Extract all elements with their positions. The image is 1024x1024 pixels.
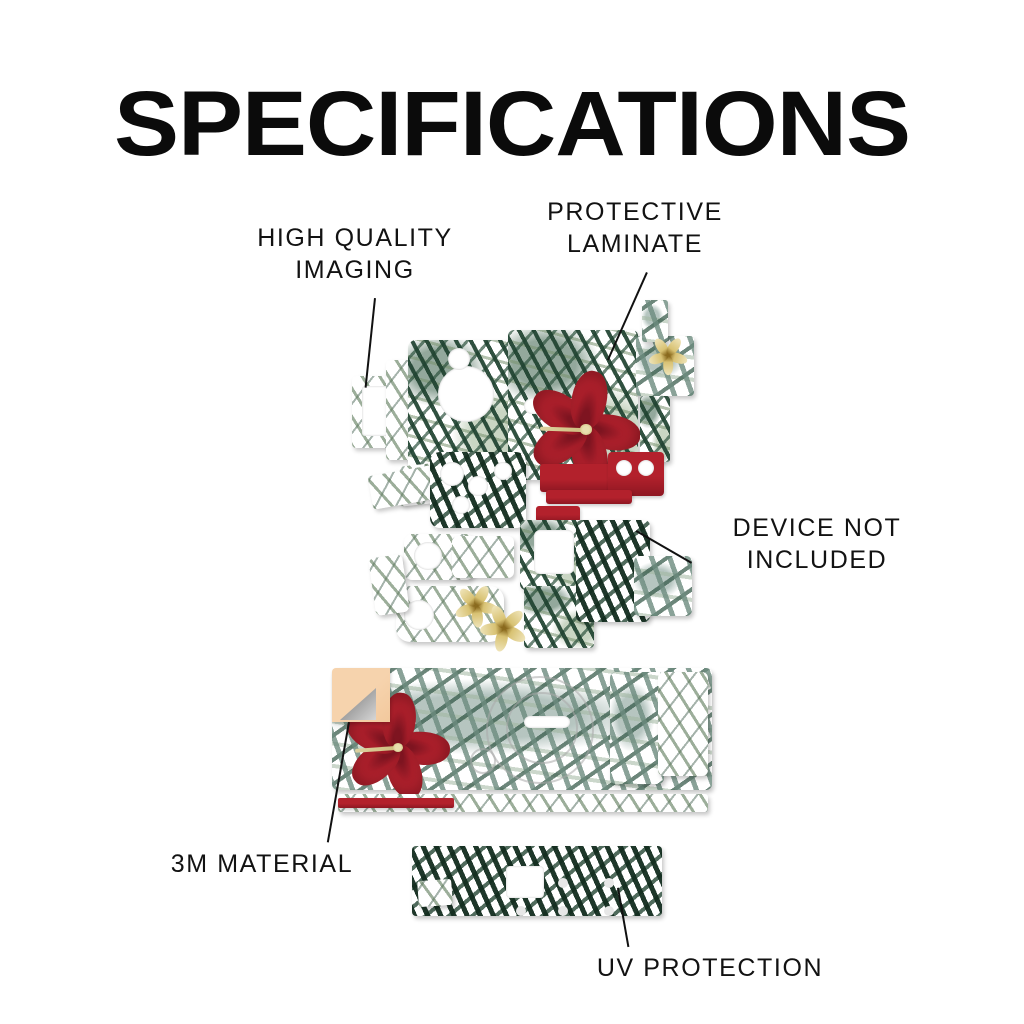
- cutout-bottom-port-1: [516, 906, 526, 916]
- specifications-infographic: SPECIFICATIONS: [0, 0, 1024, 1024]
- cutout-bottom-window: [506, 866, 544, 898]
- skin-piece-strip-red-accent: [338, 798, 454, 808]
- skin-piece-bottom-left-tab: [417, 879, 453, 907]
- skin-piece-far-right-panel: [658, 672, 708, 776]
- cutout-button-1: [440, 462, 464, 486]
- cutout-bottom-port-2: [558, 906, 568, 916]
- skin-piece-mid-left-rect: [452, 536, 514, 578]
- callout-protective-laminate: PROTECTIVE LAMINATE: [490, 196, 780, 260]
- cutout-bottom-port-3: [604, 906, 614, 916]
- cutout-bottom-port-5: [604, 878, 614, 888]
- skin-piece-red-bar-thin: [546, 490, 632, 504]
- cutout-bottom-port-4: [558, 878, 568, 888]
- skin-piece-top-right-square: [636, 336, 694, 396]
- cutout-port-b: [638, 460, 654, 476]
- cutout-mid-ring: [414, 542, 442, 570]
- cutout-lens-large: [438, 366, 494, 422]
- cutout-button-3: [494, 462, 512, 480]
- callout-high-quality-imaging: HIGH QUALITY IMAGING: [190, 222, 520, 286]
- cutout-lower-slot: [524, 716, 570, 728]
- skin-piece-top-right-tall: [642, 300, 668, 342]
- cutout-lens-ring-inner: [506, 692, 578, 764]
- callout-3m-material: 3M MATERIAL: [128, 848, 396, 880]
- cutout-port-a: [616, 460, 632, 476]
- callout-uv-protection: UV PROTECTION: [560, 952, 860, 984]
- cutout-viewfinder: [524, 398, 588, 414]
- skin-piece-right-of-panel: [610, 672, 664, 784]
- cutout-small-ring: [470, 748, 496, 774]
- callout-device-not-included: DEVICE NOT INCLUDED: [672, 512, 962, 576]
- cutout-button-4: [452, 496, 470, 514]
- cutout-mid-window: [534, 530, 574, 574]
- cutout-lens-small: [448, 348, 470, 370]
- cutout-button-2: [468, 476, 488, 496]
